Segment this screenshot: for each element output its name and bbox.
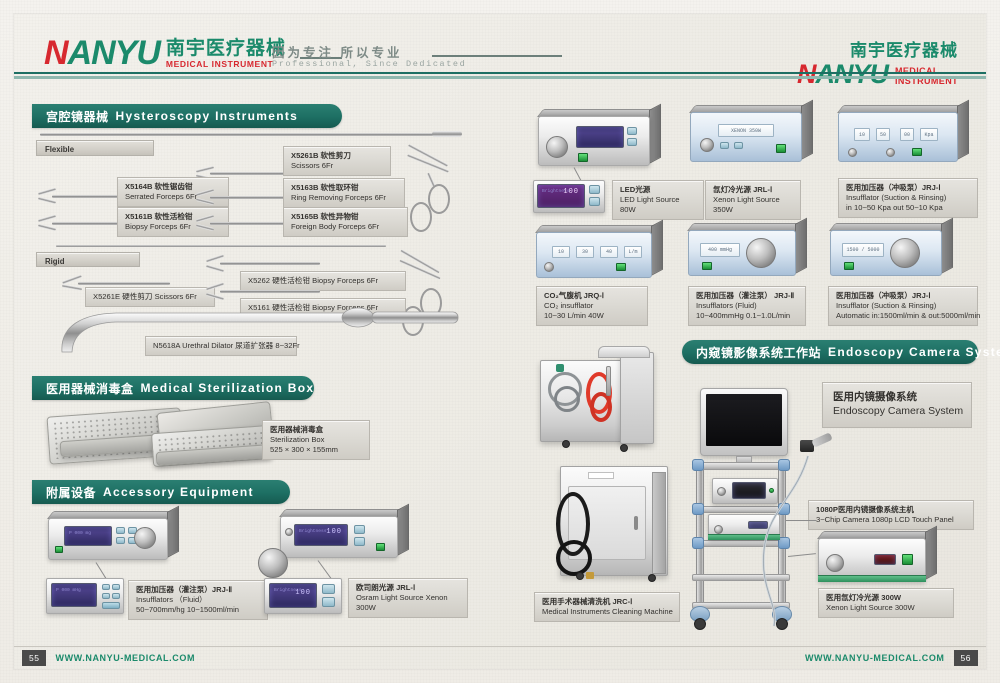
cleaning-machine-upper-side [620, 352, 654, 444]
thumb-osram-up[interactable] [322, 584, 335, 594]
cart-joint-1 [692, 459, 704, 471]
hose-brass-fitting [586, 572, 594, 579]
hose-fitting-green [556, 364, 564, 372]
device-thumbnail-insufflator: P 000 mHg [46, 578, 124, 614]
caption-cleaning-machine: 医用手术器械清洗机 JRC-Ⅰ Medical Instruments Clea… [534, 592, 680, 622]
osram-button-down[interactable] [354, 537, 365, 546]
flexible-scope-tip [432, 131, 462, 137]
co2-port [544, 262, 554, 272]
led-thumb-down[interactable] [589, 197, 600, 206]
section-banner-endoscopy: 内窥镜影像系统工作站 Endoscopy Camera System [682, 340, 978, 364]
catalog-spread: NANYU 南宇医疗器械 MEDICAL INSTRUMENT 因为专注 所以专… [0, 0, 1000, 683]
camera-host-led [769, 488, 774, 493]
suction-port-1 [848, 148, 857, 157]
brand-name-cn-right: 南宇医疗器械 [797, 36, 958, 61]
tagline-cn: 因为专注 所以专业 [272, 46, 466, 60]
xenon-display: XENON 350W [718, 124, 774, 137]
osram-port [285, 528, 293, 536]
rigid-scope-shaft [56, 245, 386, 247]
cart-shelf-1 [692, 462, 790, 470]
caption-insufflator-fluid: 医用加压器（灌注泵）JRJ-Ⅱ Insufflators （Fluid） 50~… [128, 580, 268, 620]
xenon-port [700, 138, 714, 152]
instrument-shaft-x5262 [220, 262, 320, 265]
device-insufflator-auto: 1500 / 5000 [830, 230, 942, 276]
tower-light-source [708, 514, 780, 540]
device-xenon-300w [818, 538, 926, 582]
website-url-right[interactable]: WWW.NANYU-MEDICAL.COM [805, 653, 945, 663]
device-roller-pump[interactable] [134, 527, 156, 549]
tagline-en: Professional, Since Dedicated [272, 60, 466, 70]
suction-display-2: 50 [876, 128, 890, 141]
caption-insufflator-fluid-right: 医用加压器（灌注泵） JRJ-Ⅱ Insufflators (Fluid) 10… [688, 286, 806, 326]
xenon-button-2[interactable] [734, 142, 743, 149]
led-screen [576, 126, 624, 148]
xenon-power-led [776, 144, 786, 153]
suction-display-1: 10 [854, 128, 870, 141]
machine-label [588, 472, 614, 479]
suction-display-3: 00 [900, 128, 914, 141]
auto-power-led [844, 262, 854, 270]
device-osram-light-source: Brightness100 [280, 516, 398, 558]
led-button-down[interactable] [627, 138, 637, 146]
xenon300-display [874, 554, 896, 565]
cleaning-machine-lower-caster-right [648, 574, 656, 582]
tagline-rule [432, 55, 562, 57]
osram-button-up[interactable] [354, 525, 365, 534]
caption-ring-removing-forceps: X5163B 软性取环钳 Ring Removing Forceps 6Fr [283, 178, 405, 208]
light-guide-connector [258, 548, 288, 578]
tagline: 因为专注 所以专业 Professional, Since Dedicated [272, 46, 466, 70]
camera-host-port [717, 487, 726, 496]
led-thumb-screen: Brightness100 [537, 184, 585, 208]
light-source-port [714, 525, 723, 534]
device-button-mode[interactable] [116, 537, 125, 544]
caption-insufflator-auto: 医用加压器（冲吸泵）JRJ-Ⅰ Insufflator (Suction & R… [828, 286, 978, 326]
device-screen: P 000 mg [64, 526, 112, 546]
led-button-up[interactable] [627, 127, 637, 135]
device-xenon-light-source: XENON 350W [690, 112, 802, 162]
website-url-left[interactable]: WWW.NANYU-MEDICAL.COM [55, 653, 195, 663]
section-banner-accessory: 附属设备 Accessory Equipment [32, 480, 290, 504]
cleaning-machine-lower-side [652, 472, 666, 574]
header-rule-light [14, 76, 986, 79]
device-led-light-source [538, 116, 650, 166]
brand-wordmark-right: NANYU [797, 62, 888, 86]
fluid-power-led [702, 262, 712, 270]
led-power-led [578, 153, 588, 162]
co2-display-1: 10 [552, 246, 570, 258]
led-thumb-up[interactable] [589, 185, 600, 194]
device-thumbnail-osram: Brightness100 [264, 578, 342, 614]
xenon-button-1[interactable] [720, 142, 729, 149]
suction-power-led [912, 148, 922, 156]
instrument-shaft-x5161 [220, 290, 320, 293]
suction-port-2 [886, 148, 895, 157]
device-thumbnail-led: Brightness100 [533, 180, 605, 213]
caption-camera-system: 医用内镜摄像系统 Endoscopy Camera System [822, 382, 972, 428]
caption-co2-insufflator: CO₂气腹机 JRQ-Ⅰ CO₂ insufflator 10~30 L/min… [536, 286, 648, 326]
door-handle[interactable] [634, 516, 638, 530]
suction-display-4: Kpa [920, 128, 938, 141]
cleaning-machine-upper-caster-right [620, 444, 628, 452]
led-knob[interactable] [546, 136, 568, 158]
device-insufflator-suction: 10 50 00 Kpa [838, 112, 958, 162]
auto-display: 1500 / 5000 [842, 243, 884, 257]
caption-sterilization-box: 医用器械消毒盒 Sterilization Box 525 × 300 × 15… [262, 420, 370, 460]
drain-hose-coil [556, 540, 592, 576]
xenon300-light-port [826, 554, 844, 572]
caption-camera-host: 1080P医用内镜摄像系统主机 3~Chip Camera 1080p LCD … [808, 500, 974, 530]
co2-display-2: 30 [576, 246, 594, 258]
thumb-button-4[interactable] [112, 593, 120, 599]
fluid-roller-pump[interactable] [746, 238, 776, 268]
instrument-shaft-x5261e [78, 282, 170, 285]
caption-scissors-6fr: X5261B 软性剪刀 Scissors 6Fr [283, 146, 391, 176]
caption-led-light-source: LED光源 LED Light Source 80W [612, 180, 704, 220]
brand-wordmark: NANYU [44, 38, 160, 69]
cart-joint-5 [692, 537, 704, 549]
spray-gun [606, 366, 611, 396]
footer-left: 55 WWW.NANYU-MEDICAL.COM [22, 647, 195, 669]
cleaning-machine-upper-tray [598, 346, 650, 358]
auto-roller-pump[interactable] [890, 238, 920, 268]
co2-display-4: L/m [624, 246, 642, 258]
device-insufflator-fluid: P 000 mg [48, 518, 168, 560]
cart-shelf-2 [692, 506, 790, 513]
footer-right: WWW.NANYU-MEDICAL.COM 56 [805, 647, 978, 669]
monitor-screen [706, 394, 782, 446]
cart-joint-3 [692, 503, 704, 515]
fluid-display: 400 mmHg [700, 243, 740, 257]
tower-camera-host [712, 478, 778, 504]
brand-name-cn: 南宇医疗器械 [166, 39, 286, 58]
light-source-display [748, 521, 768, 529]
device-power-led [55, 546, 63, 553]
thumb-button-enter[interactable] [102, 602, 120, 609]
thumb-button-1[interactable] [102, 584, 110, 590]
cart-wheel-right [776, 618, 788, 630]
caption-insufflator-suction: 医用加压器（冲吸泵）JRJ-Ⅰ Insufflator (Suction & R… [838, 178, 978, 218]
xenon300-green-strip [818, 575, 926, 582]
tower-monitor [700, 388, 788, 456]
device-screen-osram: Brightness100 [294, 524, 348, 546]
section-banner-sterilization: 医用器械消毒盒 Medical Sterilization Box [32, 376, 314, 400]
page-number-left: 55 [22, 650, 46, 666]
device-button-up[interactable] [116, 527, 125, 534]
brand-name-en: MEDICAL INSTRUMENT [166, 60, 286, 69]
osram-power-led [376, 543, 385, 551]
thumb-button-3[interactable] [102, 593, 110, 599]
caption-x5262-biopsy: X5262 硬性活检钳 Biopsy Forceps 6Fr [240, 271, 406, 291]
cleaning-machine-upper-caster-left [562, 440, 570, 448]
device-insufflator-fluid-right: 400 mmHg [688, 230, 796, 276]
caption-foreign-body-forceps: X5165B 软性异物钳 Foreign Body Forceps 6Fr [283, 207, 408, 237]
co2-display-3: 40 [600, 246, 618, 258]
water-hose-red-2 [590, 392, 612, 422]
section-banner-hysteroscopy: 宫腔镜器械 Hysteroscopy Instruments [32, 104, 342, 128]
cart-shelf-3 [692, 540, 790, 547]
caption-xenon-light-source: 氙灯冷光源 JRL-Ⅰ Xenon Light Source 350W [705, 180, 801, 220]
ring-handle-instrument-upper [398, 150, 468, 270]
thumb-osram-down[interactable] [322, 597, 335, 607]
cart-shelf-4 [692, 574, 790, 581]
page-number-right: 56 [954, 650, 978, 666]
cleaning-machine-lower-caster-left [576, 572, 584, 580]
caption-xenon-300w: 医用氙灯冷光源 300W Xenon Light Source 300W [818, 588, 954, 618]
cart-joint-2 [778, 459, 790, 471]
air-hose-gray-2 [554, 386, 580, 412]
flexible-scope-shaft [40, 133, 440, 136]
caption-osram-light-source: 欧司朗光源 JRL-Ⅰ Osram Light Source Xenon 300… [348, 578, 468, 618]
caption-urethral-dilator: N5618A Urethral Dilator 尿道扩张器 8~32Fr [145, 336, 297, 356]
group-label-flexible: Flexible [36, 140, 154, 156]
header-rule-dark [14, 72, 986, 74]
cart-wheel-left [694, 618, 706, 630]
xenon300-power-button[interactable] [902, 554, 913, 565]
camera-host-panel[interactable] [732, 482, 766, 499]
leader-line-camera-host [786, 520, 816, 521]
co2-power-led [616, 263, 626, 271]
thumb-button-2[interactable] [112, 584, 120, 590]
group-label-rigid: Rigid [36, 252, 140, 267]
light-source-green-strip [708, 534, 780, 540]
device-co2-insufflator: 10 30 40 L/m [536, 232, 652, 278]
